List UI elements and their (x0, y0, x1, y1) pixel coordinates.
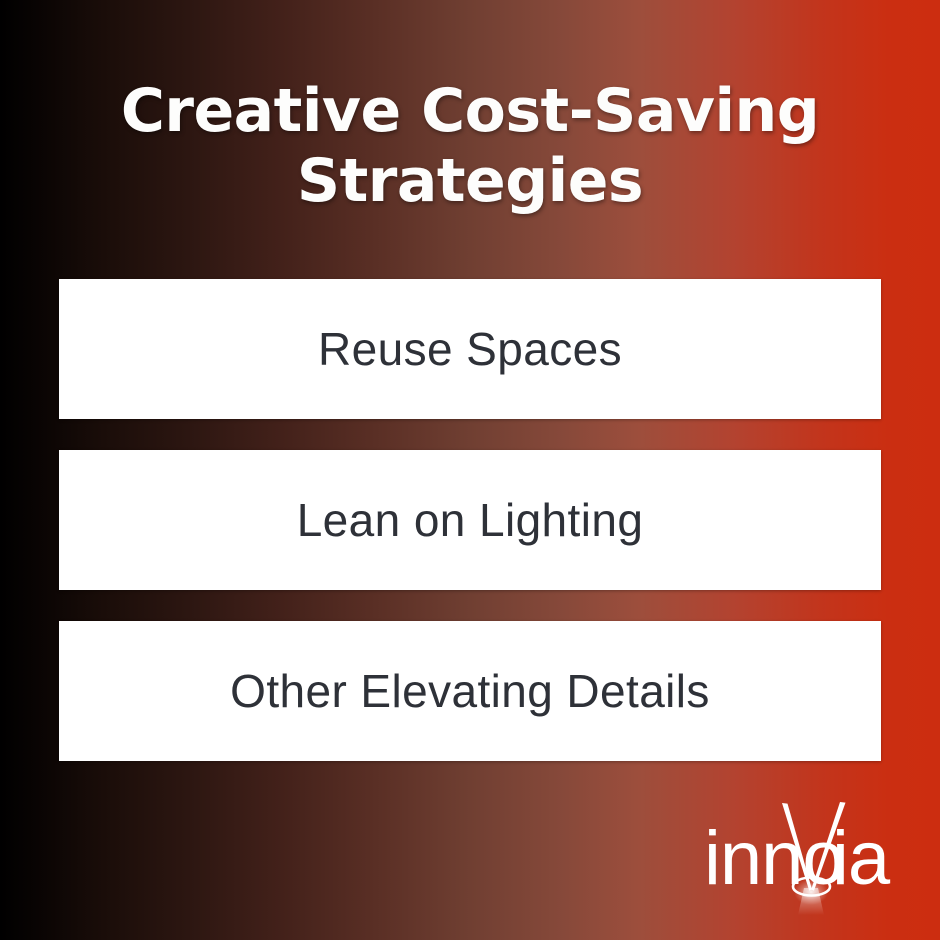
page-title-line-2: Strategies (60, 146, 880, 216)
strategy-card-3-label: Other Elevating Details (230, 664, 710, 718)
strategy-card-2[interactable]: Lean on Lighting (59, 450, 881, 590)
brand-logo-graphic: inno ia (690, 770, 930, 930)
strategy-card-2-label: Lean on Lighting (297, 493, 644, 547)
brand-logo: inno ia (690, 770, 930, 930)
strategy-card-1[interactable]: Reuse Spaces (59, 279, 881, 419)
logo-wordmark-after: ia (832, 816, 891, 901)
page-title-line-1: Creative Cost-Saving (60, 76, 880, 146)
strategy-card-1-label: Reuse Spaces (318, 322, 622, 376)
strategy-card-3[interactable]: Other Elevating Details (59, 621, 881, 761)
logo-wordmark-before: inno (704, 816, 844, 901)
slide-canvas: Creative Cost-Saving Strategies Reuse Sp… (0, 0, 940, 940)
page-title: Creative Cost-Saving Strategies (0, 76, 940, 216)
